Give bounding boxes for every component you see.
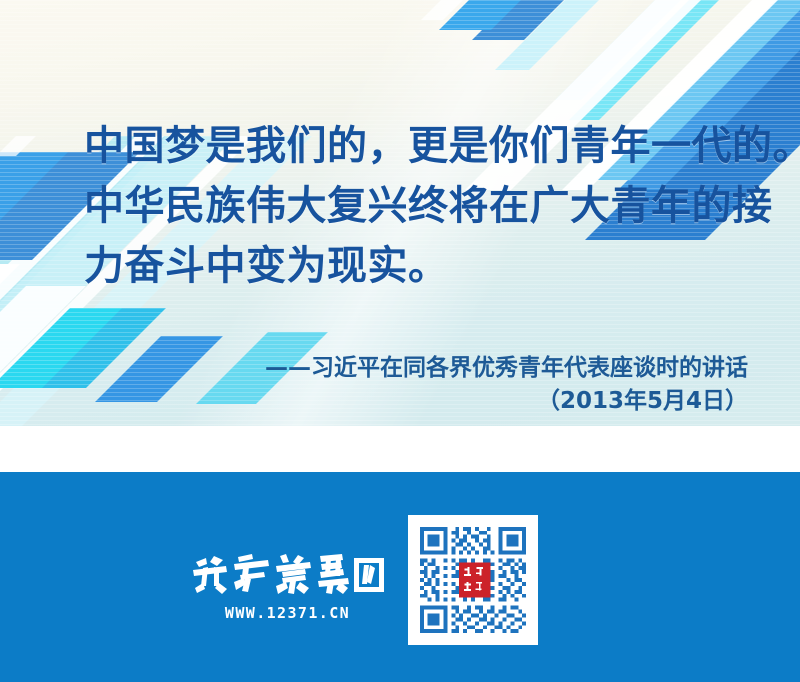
attribution-block: ——习近平在同各界优秀青年代表座谈时的讲话 （2013年5月4日） [48,352,748,418]
attribution-source: ——习近平在同各界优秀青年代表座谈时的讲话 [48,352,748,385]
poster-root: 中国梦是我们的，更是你们青年一代的。 中华民族伟大复兴终将在广大青年的接 力奋斗… [0,0,800,682]
quote-line-3: 力奋斗中变为现实。 [84,236,756,296]
footer-bar: WWW.12371.CN [0,472,800,682]
quote-line-1: 中国梦是我们的，更是你们青年一代的。 [84,116,756,176]
qr-code[interactable] [408,515,538,645]
brand-block: WWW.12371.CN [190,548,385,622]
quote-block: 中国梦是我们的，更是你们青年一代的。 中华民族伟大复兴终将在广大青年的接 力奋斗… [84,116,756,296]
quote-line-2: 中华民族伟大复兴终将在广大青年的接 [84,176,756,236]
attribution-date: （2013年5月4日） [48,385,748,418]
brand-logo-icon [190,548,385,598]
hero-background: 中国梦是我们的，更是你们青年一代的。 中华民族伟大复兴终将在广大青年的接 力奋斗… [0,0,800,426]
brand-url: WWW.12371.CN [190,604,385,622]
section-divider [0,426,800,472]
qr-center-logo [459,562,491,597]
